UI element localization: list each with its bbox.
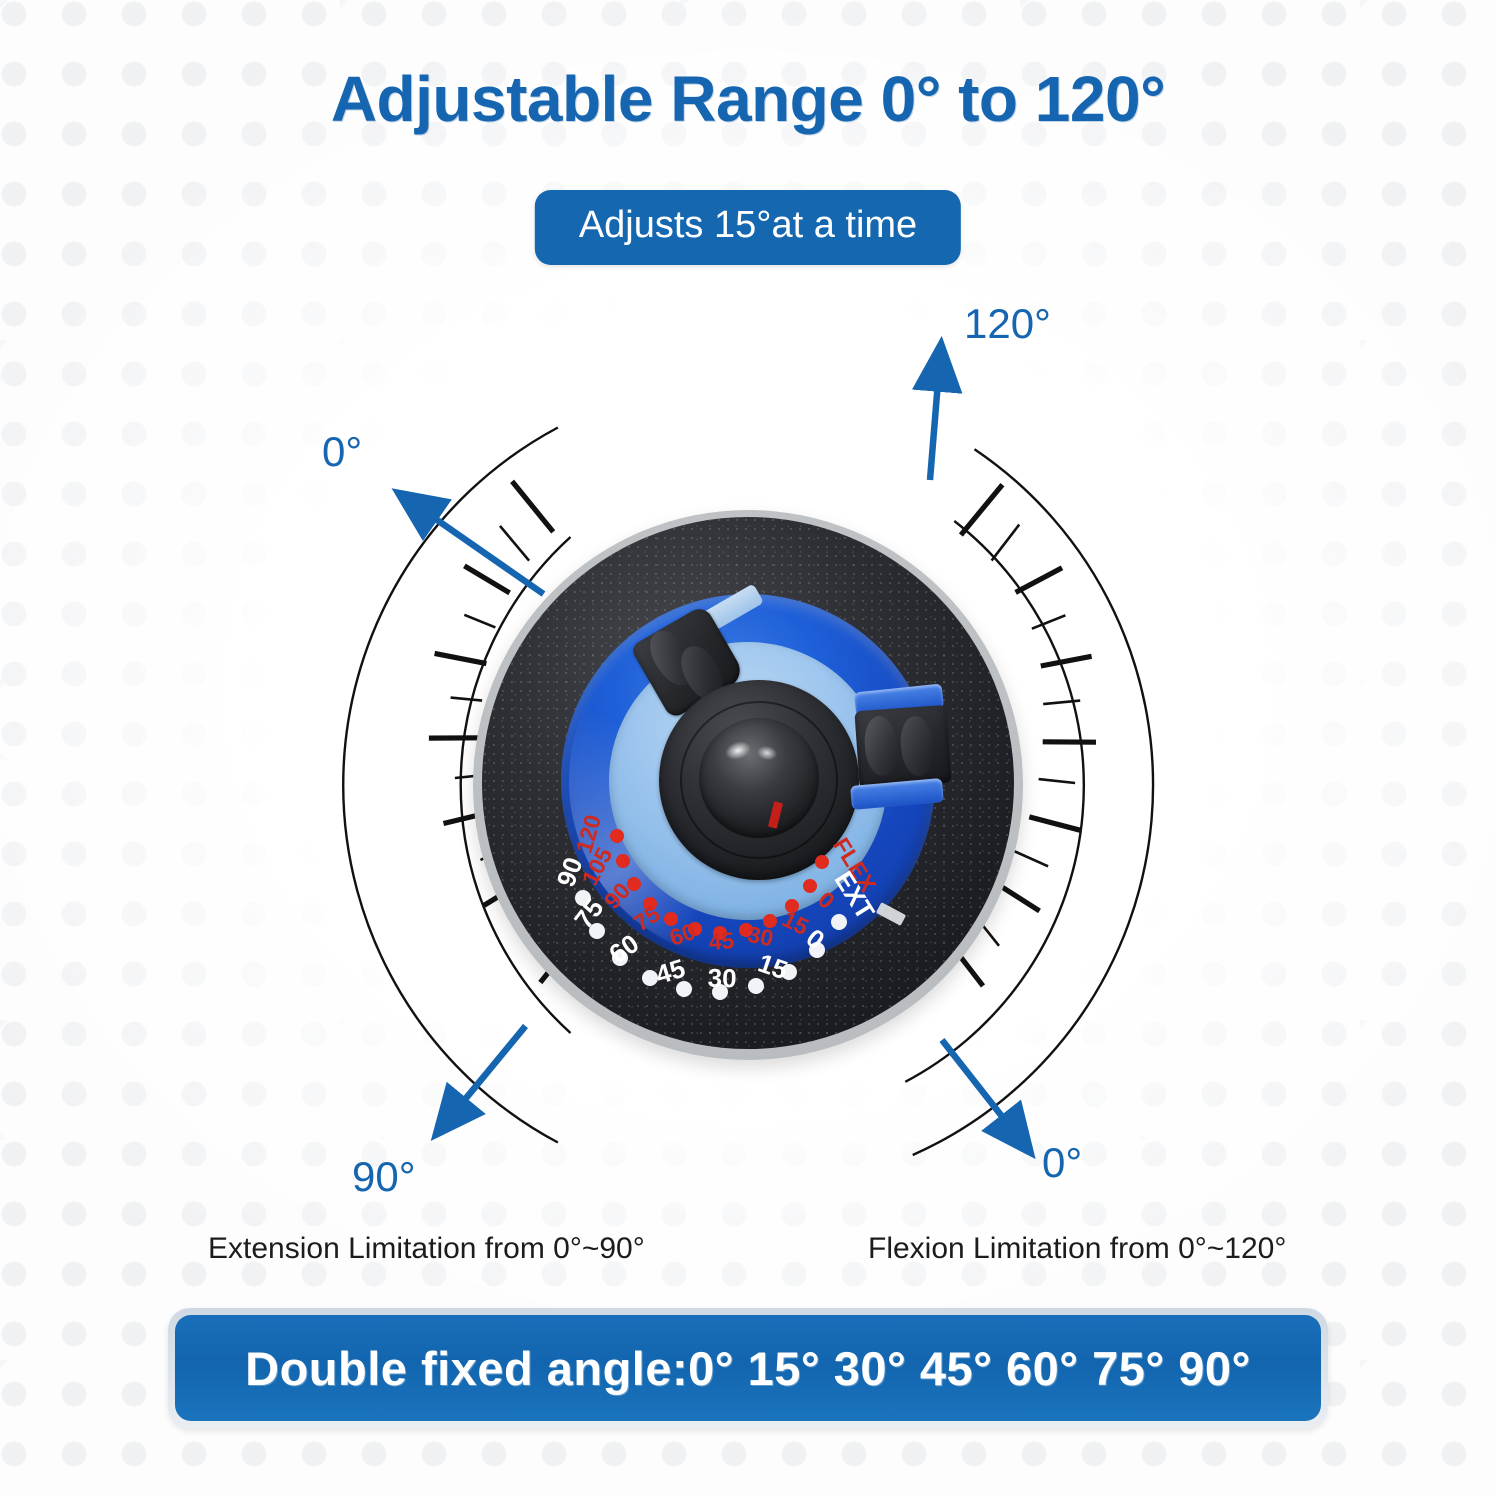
arrow-right-120 xyxy=(930,345,941,480)
dial-scale-markings: 120 105 90 75 60 45 30 15 0 FLEX xyxy=(473,510,1023,1060)
angle-label-right-0: 0° xyxy=(1042,1139,1082,1187)
flex-label-15: 15 xyxy=(778,906,813,941)
ext-label-30: 30 xyxy=(707,963,736,994)
angle-label-right-120: 120° xyxy=(964,300,1051,348)
knee-brace-rom-dial[interactable]: 120 105 90 75 60 45 30 15 0 FLEX xyxy=(473,510,1023,1060)
angle-label-left-90: 90° xyxy=(352,1153,416,1201)
caption-flexion-limitation: Flexion Limitation from 0°~120° xyxy=(868,1232,1286,1266)
flex-label-45: 45 xyxy=(708,927,736,955)
flex-label-30: 30 xyxy=(745,921,775,951)
ext-label-60: 60 xyxy=(603,928,644,969)
bottom-banner-frame: Double fixed angle:0° 15° 30° 45° 60° 75… xyxy=(168,1308,1328,1428)
bottom-banner-text: Double fixed angle:0° 15° 30° 45° 60° 75… xyxy=(175,1315,1321,1421)
ext-label-90: 90 xyxy=(551,853,589,890)
infographic-stage: Adjustable Range 0° to 120° Adjusts 15°a… xyxy=(0,0,1496,1496)
flex-label-75: 75 xyxy=(629,900,665,936)
caption-extension-limitation: Extension Limitation from 0°~90° xyxy=(208,1232,645,1266)
angle-label-left-0: 0° xyxy=(322,428,362,476)
